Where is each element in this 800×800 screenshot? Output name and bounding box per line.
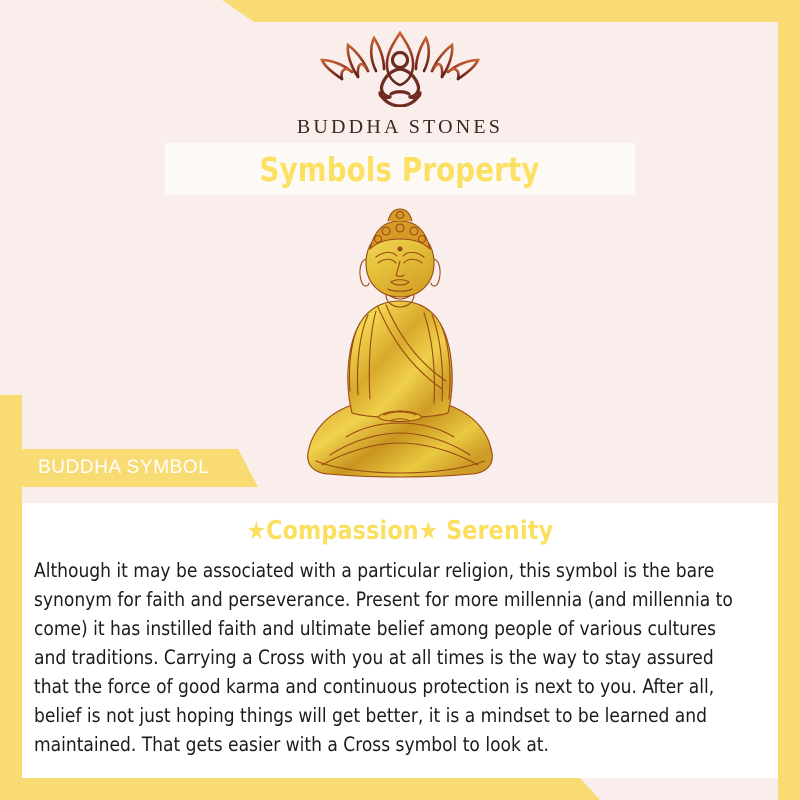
- brand-logo-block: BUDDHA STONES: [0, 22, 800, 139]
- star-icon-left: ★: [247, 516, 266, 545]
- symbol-category-label: BUDDHA SYMBOL: [38, 457, 209, 479]
- attributes-subheading: ★Compassion★ Serenity: [41, 516, 759, 546]
- description-panel: ★Compassion★ Serenity Although it may be…: [22, 503, 778, 778]
- decorative-top-band: [0, 0, 800, 22]
- star-icon-right: ★: [419, 516, 438, 545]
- attribute-serenity: Serenity: [438, 516, 553, 546]
- decorative-bottom-band: [0, 778, 800, 800]
- page-title: Symbols Property: [260, 150, 540, 189]
- description-body-text: Although it may be associated with a par…: [34, 556, 746, 759]
- brand-wordmark: BUDDHA STONES: [0, 116, 800, 139]
- lotus-meditation-figure-icon: [0, 27, 800, 112]
- decorative-right-band: [778, 0, 800, 800]
- promotional-banner-page: BUDDHA STONES Symbols Property: [0, 0, 800, 800]
- buddha-statue-icon: [290, 203, 510, 493]
- symbol-category-tag: BUDDHA SYMBOL: [0, 449, 260, 487]
- attribute-compassion: Compassion: [266, 516, 419, 546]
- title-banner: Symbols Property: [165, 143, 635, 195]
